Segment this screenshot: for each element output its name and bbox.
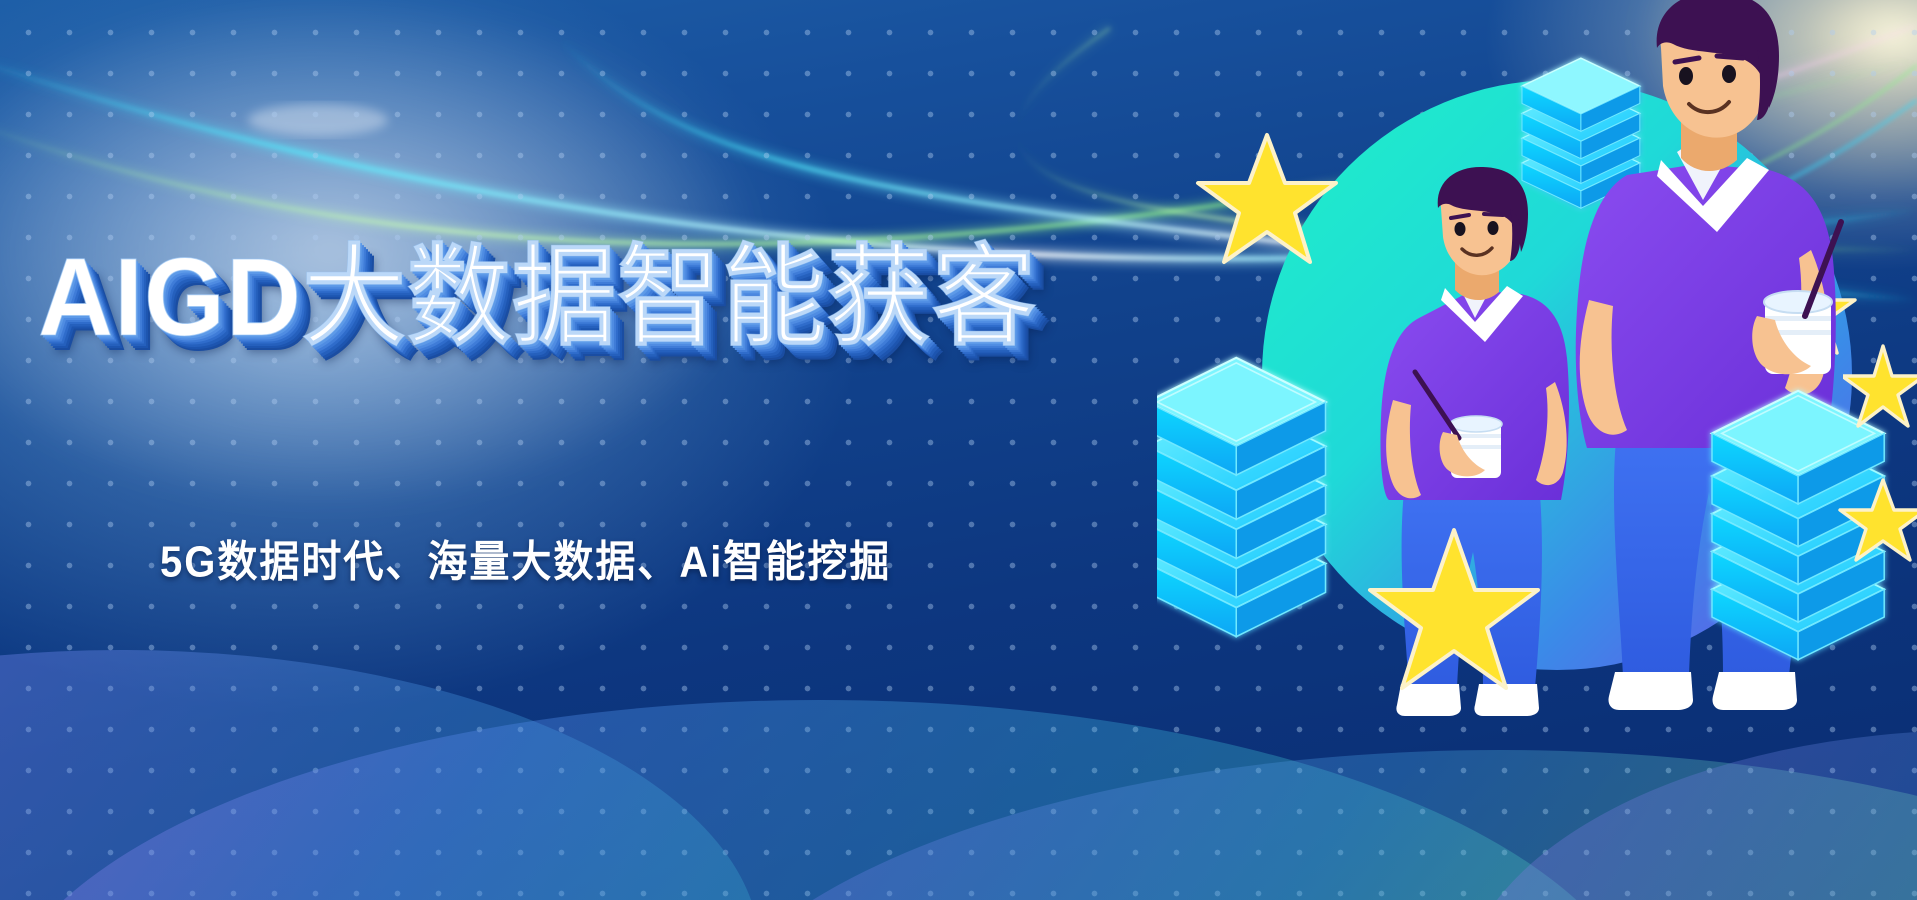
- tall-man-eye-right: [1722, 65, 1736, 83]
- banner-headline: AIGD大数据智能获客: [38, 243, 1037, 353]
- star-far-right-edge: [1843, 338, 1917, 438]
- promo-banner: AIGD大数据智能获客 5G数据时代、海量大数据、Ai智能挖掘: [0, 0, 1917, 900]
- short-man-eye-right: [1488, 221, 1499, 235]
- tall-man-eye-left: [1679, 67, 1693, 85]
- server-stack-left: [1157, 358, 1326, 637]
- banner-text-block: AIGD大数据智能获客 5G数据时代、海量大数据、Ai智能挖掘: [0, 0, 1060, 900]
- people-and-servers-illustration: [1157, 0, 1917, 820]
- tall-man-shoe-left: [1608, 672, 1693, 710]
- short-man-brow-right: [1484, 214, 1503, 215]
- short-man-eye-left: [1455, 222, 1466, 236]
- banner-subheadline: 5G数据时代、海量大数据、Ai智能挖掘: [160, 527, 891, 590]
- short-man-shoe-left: [1396, 684, 1461, 716]
- tall-man-shoe-right: [1712, 672, 1797, 710]
- tall-man-brow-right: [1717, 56, 1743, 58]
